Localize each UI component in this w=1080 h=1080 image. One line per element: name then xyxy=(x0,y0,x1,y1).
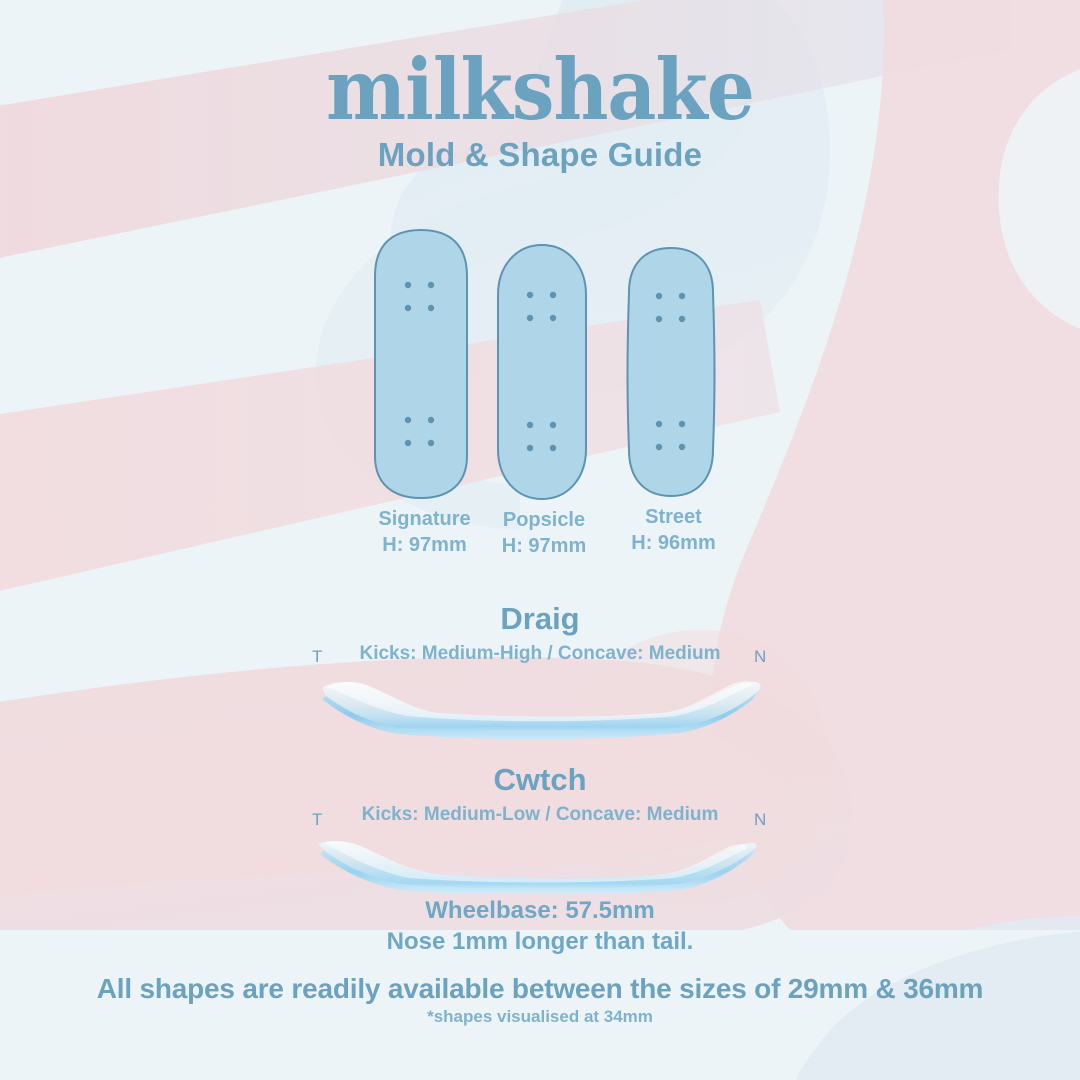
profile-draig-wrap xyxy=(0,666,1080,747)
mold-spec: Kicks: Medium-High / Concave: Medium xyxy=(0,644,1080,663)
shape-height: H: 97mm xyxy=(371,532,478,558)
mold-section-cwtch: Cwtch Kicks: Medium-Low / Concave: Mediu… xyxy=(0,764,1080,824)
shape-card-popsicle[interactable]: Popsicle H: 97mm xyxy=(494,243,594,560)
shape-name: Popsicle xyxy=(494,507,594,533)
nose-note-text: Nose 1mm longer than tail. xyxy=(0,928,1080,956)
nose-marker-draig: N xyxy=(754,647,766,667)
mold-name: Draig xyxy=(0,603,1080,634)
availability-text: All shapes are readily available between… xyxy=(0,973,1080,1005)
shape-card-street[interactable]: Street H: 96mm xyxy=(622,246,725,557)
tail-marker-cwtch: T xyxy=(312,810,322,830)
shape-name: Street xyxy=(622,504,725,530)
mold-spec: Kicks: Medium-Low / Concave: Medium xyxy=(0,805,1080,824)
poster-canvas: milkshake Mold & Shape Guide Signatur xyxy=(0,0,1080,1080)
nose-marker-cwtch: N xyxy=(754,810,766,830)
page-subtitle: Mold & Shape Guide xyxy=(0,136,1080,174)
shape-gallery: Signature H: 97mm Popsicle H: xyxy=(0,228,1080,573)
shape-height: H: 97mm xyxy=(494,533,594,559)
shape-height: H: 96mm xyxy=(622,530,725,556)
profile-cwtch-wrap xyxy=(0,828,1080,899)
tail-marker-draig: T xyxy=(312,647,322,667)
deck-popsicle-icon xyxy=(494,243,590,501)
deck-street-icon xyxy=(622,246,720,498)
mold-profile-draig xyxy=(0,666,1080,742)
shape-name: Signature xyxy=(371,506,478,532)
footnote-text: *shapes visualised at 34mm xyxy=(0,1007,1080,1027)
mold-name: Cwtch xyxy=(0,764,1080,795)
wheelbase-text: Wheelbase: 57.5mm xyxy=(0,897,1080,925)
page-title: milkshake xyxy=(0,48,1080,132)
shape-card-signature[interactable]: Signature H: 97mm xyxy=(371,228,478,559)
mold-profile-cwtch xyxy=(0,828,1080,894)
deck-signature-icon xyxy=(371,228,471,500)
mold-section-draig: Draig Kicks: Medium-High / Concave: Medi… xyxy=(0,603,1080,663)
